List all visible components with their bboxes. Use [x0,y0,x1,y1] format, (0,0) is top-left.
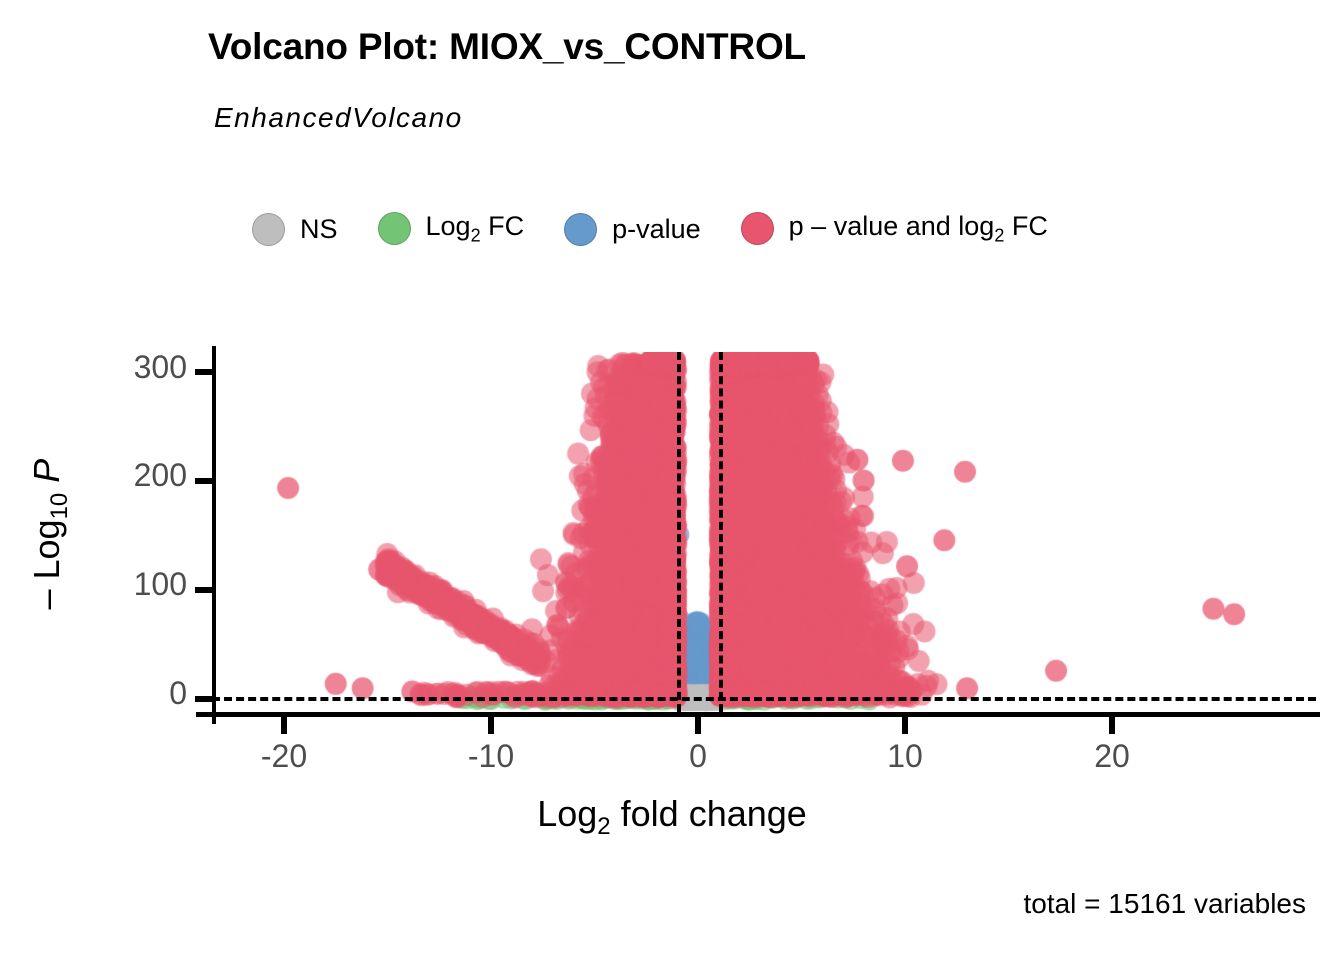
x-tick--20 [281,717,287,734]
legend-item-pvalue[interactable]: p-value [564,213,701,246]
total-variables-caption: total = 15161 variables [1023,888,1306,920]
legend-label-pvalue-and-log2fc: p – value and log2 FC [789,211,1048,246]
x-tick-label-20: 20 [1032,738,1192,775]
legend-label-ns: NS [300,214,338,245]
x-axis-title: Log2 fold change [0,793,1344,841]
y-tick-0 [195,696,212,702]
x-tick-label-0: 0 [618,738,778,775]
legend-item-ns[interactable]: NS [252,213,338,246]
threshold-line-pvalue [212,697,1316,701]
y-tick-100 [195,587,212,593]
y-tick-200 [195,478,212,484]
page-title: Volcano Plot: MIOX_vs_CONTROL [208,26,806,68]
x-tick-label--20: -20 [204,738,364,775]
legend-swatch-pvalue-and-log2fc [741,212,774,245]
plot-subtitle: EnhancedVolcano [214,102,463,134]
threshold-line-log2fc-positive [719,352,723,712]
legend-swatch-pvalue [564,213,597,246]
y-tick-300 [195,369,212,375]
legend-item-pvalue-and-log2fc[interactable]: p – value and log2 FC [741,211,1048,246]
legend-swatch-ns [252,213,285,246]
x-tick-20 [1109,717,1115,734]
legend-item-log2fc[interactable]: Log2 FC [378,211,525,246]
legend-swatch-log2fc [378,212,411,245]
x-tick-10 [902,717,908,734]
y-axis-line [212,346,216,724]
x-tick-label--10: -10 [411,738,571,775]
y-axis-title: – Log10 P [26,374,74,694]
x-axis-line [196,712,1320,717]
legend: NS Log2 FC p-value p – value and log2 FC [252,205,1088,253]
plot-panel [212,352,1316,712]
x-tick-label-10: 10 [825,738,985,775]
scatter-points [212,352,1316,712]
threshold-line-log2fc-negative [677,352,681,712]
x-tick-0 [695,717,701,734]
legend-label-log2fc: Log2 FC [426,211,525,246]
legend-label-pvalue: p-value [612,214,701,245]
x-tick--10 [488,717,494,734]
